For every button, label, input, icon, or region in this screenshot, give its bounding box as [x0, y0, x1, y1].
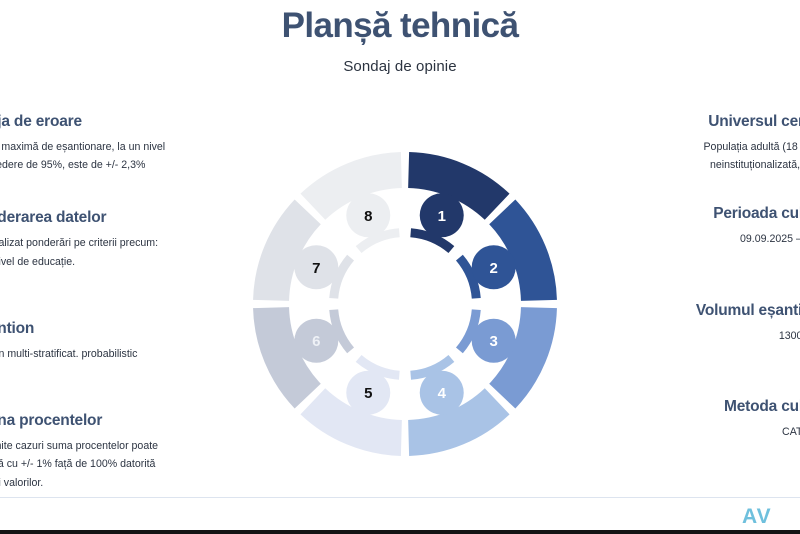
donut-inner-ring: [329, 228, 481, 380]
block-body-line: Populația adultă (18 ani și…: [586, 138, 800, 156]
info-block-sum-of-percentages: …na procentelor …mite cazuri suma procen…: [0, 412, 214, 492]
donut-bubble-label-3: 3: [490, 333, 498, 350]
donut-bubble-label-6: 6: [312, 333, 320, 350]
donut-number-bubbles: 12345678: [294, 193, 515, 414]
block-body-line: …nivel de educație.: [0, 253, 214, 271]
donut-bubble-label-5: 5: [364, 385, 372, 402]
slide-canvas: Planșă tehnică Sondaj de opinie …ja de e…: [0, 0, 800, 534]
page-subtitle: Sondaj de opinie: [0, 46, 800, 75]
info-block-collection-period: Perioada culeg… 09.09.2025 – 18.0…: [586, 205, 800, 248]
footer-divider: [0, 497, 800, 498]
block-body-line: CATI (Tel…: [586, 423, 800, 441]
block-title: Metoda culeg…: [586, 398, 800, 416]
right-column: Universul cerce… Populația adultă (18 an…: [586, 113, 800, 455]
spacer: [0, 189, 214, 209]
block-body-line: 09.09.2025 – 18.0…: [586, 230, 800, 248]
info-block-sample-size: Volumul eșantion… 1300 de s…: [586, 302, 800, 345]
spacer: [586, 359, 800, 398]
block-title: …na procentelor: [0, 412, 214, 430]
spacer: [586, 263, 800, 302]
block-title: …ntion: [0, 320, 214, 338]
donut-bubble-label-7: 7: [312, 260, 320, 277]
bottom-bar: [0, 530, 800, 534]
donut-bubble-label-2: 2: [490, 260, 498, 277]
block-title: …ja de eroare: [0, 113, 214, 131]
donut-diagram: 12345678: [250, 108, 560, 498]
donut-svg: 12345678: [250, 108, 560, 498]
block-title: …derarea datelor: [0, 209, 214, 227]
info-block-margin-of-error: …ja de eroare …a maximă de eșantionare, …: [0, 113, 214, 174]
block-body-line: …a maximă de eșantionare, la un nivel: [0, 138, 214, 156]
block-body-line: …ealizat ponderări pe criterii precum:: [0, 234, 214, 252]
info-block-research-universe: Universul cerce… Populația adultă (18 an…: [586, 113, 800, 174]
block-body-line: …ită cu +/- 1% față de 100% datorită: [0, 455, 214, 473]
block-title: Perioada culeg…: [586, 205, 800, 223]
block-title: Volumul eșantion…: [586, 302, 800, 320]
block-body-line: …mite cazuri suma procentelor poate: [0, 437, 214, 455]
donut-bubble-label-4: 4: [438, 385, 447, 402]
info-block-data-weighting: …derarea datelor …ealizat ponderări pe c…: [0, 209, 214, 270]
block-body-line: …rii valorilor.: [0, 474, 214, 492]
spacer: [0, 286, 214, 320]
page-title: Planșă tehnică: [0, 0, 800, 46]
header: Planșă tehnică Sondaj de opinie: [0, 0, 800, 75]
donut-bubble-label-8: 8: [364, 208, 372, 225]
info-block-sampling-method: …ntion …on multi-stratificat. probabilis…: [0, 320, 214, 363]
block-body-line: …on multi-stratificat. probabilistic: [0, 345, 214, 363]
left-column: …ja de eroare …a maximă de eșantionare, …: [0, 113, 214, 507]
donut-bubble-label-1: 1: [438, 208, 446, 225]
info-block-collection-method: Metoda culeg… CATI (Tel…: [586, 398, 800, 441]
brand-logo: AV: [742, 505, 772, 529]
block-body-line: 1300 de s…: [586, 327, 800, 345]
block-body-line: neinstituționalizată, a Ro…: [586, 156, 800, 174]
block-body-line: …redere de 95%, este de +/- 2,3%: [0, 156, 214, 174]
block-title: Universul cerce…: [586, 113, 800, 131]
spacer: [586, 188, 800, 205]
donut-outer-ring: [253, 152, 557, 456]
spacer: [0, 378, 214, 412]
